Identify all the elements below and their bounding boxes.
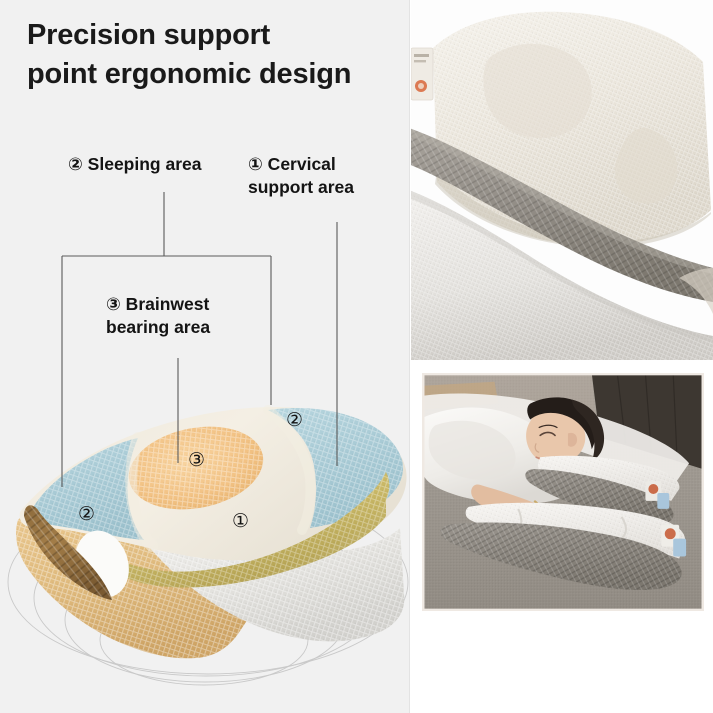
product-photo-pillow-stack	[411, 0, 713, 360]
zone-badge-sleeping-left: ②	[78, 505, 95, 524]
callout-brainwest-bearing-area: ③ Brainwest bearing area	[106, 293, 276, 340]
page-title: Precision support point ergonomic design	[27, 16, 427, 93]
callout-sleeping-area: ② Sleeping area	[68, 153, 201, 176]
infographic-page: Precision support point ergonomic design…	[0, 0, 713, 713]
zone-badge-cervical: ①	[232, 512, 249, 531]
callout-cervical-support-area: ① Cervical support area	[248, 153, 372, 200]
lifestyle-photo-woman-sleeping	[422, 373, 704, 611]
zone-badge-sleeping-right: ②	[286, 411, 303, 430]
zone-badge-brainwest: ③	[188, 451, 205, 470]
ergonomic-pillow-zone-diagram	[0, 370, 410, 713]
